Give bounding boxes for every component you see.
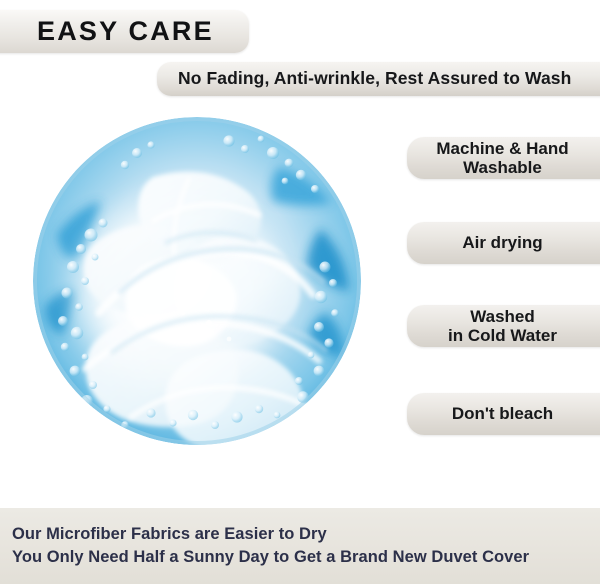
feature-bar-machine-hand-washable: Machine & Hand Washable <box>407 137 600 179</box>
feature-bar-dont-bleach: Don't bleach <box>407 393 600 435</box>
easy-care-title-bar: EASY CARE <box>0 10 249 53</box>
feature-bar-washed-in-cold-water: Washed in Cold Water <box>407 305 600 347</box>
soapy-water-illustration <box>33 117 361 445</box>
feature-bar-air-drying: Air drying <box>407 222 600 264</box>
footer-line-1: Our Microfiber Fabrics are Easier to Dry <box>0 523 600 546</box>
feature-label: Air drying <box>462 233 564 252</box>
subtitle-text: No Fading, Anti-wrinkle, Rest Assured to… <box>178 69 571 89</box>
subtitle-bar: No Fading, Anti-wrinkle, Rest Assured to… <box>157 62 600 96</box>
feature-label: Washed in Cold Water <box>448 307 579 345</box>
soapy-water-photo <box>33 117 361 445</box>
footer-line-2: You Only Need Half a Sunny Day to Get a … <box>0 546 600 569</box>
footer-band: Our Microfiber Fabrics are Easier to Dry… <box>0 508 600 584</box>
feature-label: Don't bleach <box>452 404 575 423</box>
feature-label: Machine & Hand Washable <box>436 139 590 177</box>
page-title: EASY CARE <box>37 16 214 46</box>
